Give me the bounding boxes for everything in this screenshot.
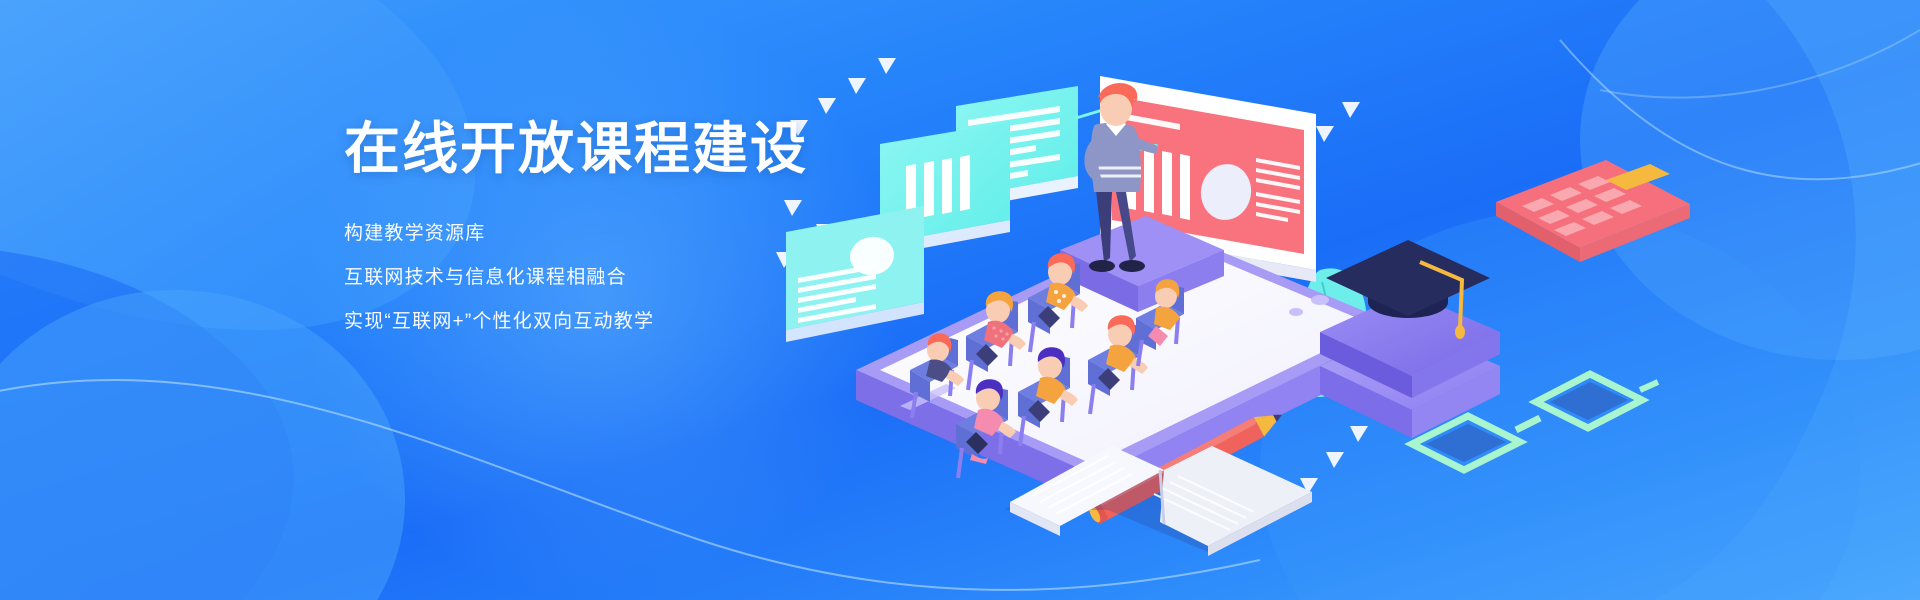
- subtitle-line-2: 互联网技术与信息化课程相融合: [344, 268, 964, 287]
- calculator: [1496, 160, 1690, 262]
- subtitle-list: 构建教学资源库 互联网技术与信息化课程相融合 实现“互联网+”个性化双向互动教学: [344, 224, 964, 331]
- hero-banner: 在线开放课程建设 构建教学资源库 互联网技术与信息化课程相融合 实现“互联网+”…: [0, 0, 1920, 600]
- page-title: 在线开放课程建设: [344, 118, 964, 180]
- subtitle-line-3: 实现“互联网+”个性化双向互动教学: [344, 312, 964, 331]
- subtitle-line-1: 构建教学资源库: [344, 224, 964, 243]
- hero-text-block: 在线开放课程建设 构建教学资源库 互联网技术与信息化课程相融合 实现“互联网+”…: [344, 118, 964, 331]
